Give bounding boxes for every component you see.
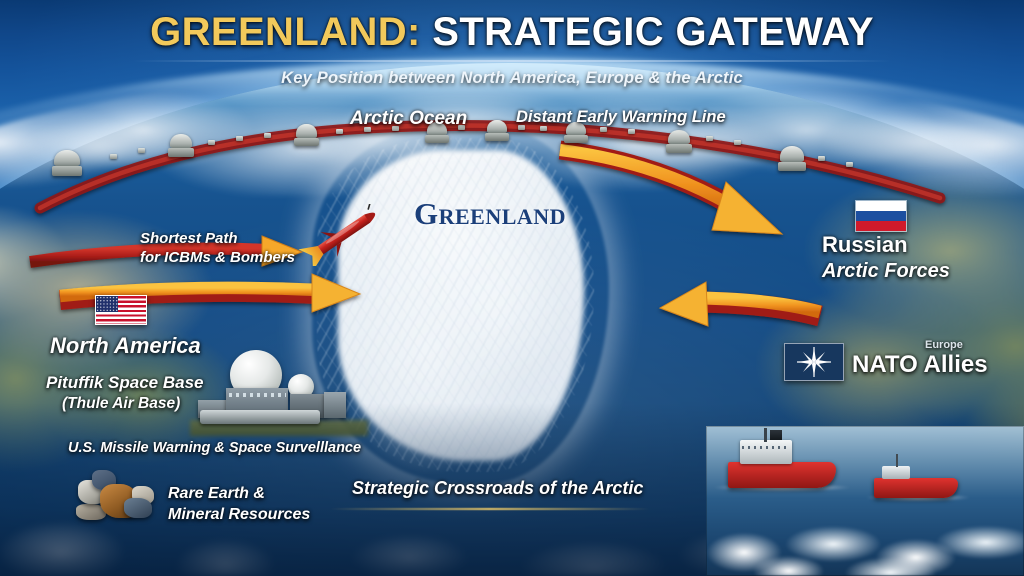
flag-band-red bbox=[856, 221, 906, 231]
icebreaker-ship-icon bbox=[706, 426, 1024, 576]
title-block: GREENLAND: STRATEGIC GATEWAY Key Positio… bbox=[0, 0, 1024, 88]
shortest-path-line-1: Shortest Path bbox=[140, 230, 238, 247]
label-europe: Europe bbox=[925, 339, 963, 351]
title-gold-part: GREENLAND: bbox=[150, 10, 421, 54]
dew-line-marker bbox=[818, 156, 825, 161]
radar-station-icon bbox=[54, 150, 80, 176]
infographic-canvas: Arctic Ocean Distant Early Warning Line … bbox=[0, 0, 1024, 576]
label-distant-early-warning-line: Distant Early Warning Line bbox=[516, 108, 726, 127]
page-subtitle: Key Position between North America, Euro… bbox=[0, 69, 1024, 88]
label-strategic-crossroads: Strategic Crossroads of the Arctic bbox=[352, 478, 643, 499]
label-russian-arctic-forces: Russian Arctic Forces bbox=[822, 232, 950, 283]
dew-line-marker bbox=[600, 127, 607, 132]
dew-line-marker bbox=[734, 140, 741, 145]
shortest-path-line-2: for ICBMs & Bombers bbox=[140, 249, 295, 266]
pituffik-line-1: Pituffik Space Base bbox=[46, 373, 203, 392]
crossroads-underline bbox=[330, 508, 650, 510]
label-north-america: North America bbox=[50, 333, 201, 359]
radar-station-icon bbox=[170, 134, 192, 157]
mineral-rocks-icon bbox=[74, 466, 166, 528]
dew-line-marker bbox=[336, 129, 343, 134]
dew-line-marker bbox=[236, 136, 243, 141]
russian-line-2: Arctic Forces bbox=[822, 259, 950, 283]
label-nato-allies: NATO Allies bbox=[852, 351, 988, 379]
dew-line-marker bbox=[706, 136, 713, 141]
base-vehicle-convoy bbox=[200, 410, 320, 424]
label-rare-earth-minerals: Rare Earth & Mineral Resources bbox=[168, 484, 310, 526]
title-white-part: STRATEGIC GATEWAY bbox=[432, 10, 874, 54]
rare-earth-line-1: Rare Earth & bbox=[168, 485, 265, 502]
dew-line-marker bbox=[110, 154, 117, 159]
russian-line-1: Russian bbox=[822, 232, 908, 257]
radar-station-icon bbox=[780, 146, 804, 171]
dew-line-marker bbox=[208, 140, 215, 145]
usa-flag-icon bbox=[95, 295, 147, 325]
mineral-rock bbox=[124, 498, 152, 518]
radar-station-icon bbox=[487, 120, 507, 141]
dew-line-marker bbox=[264, 133, 271, 138]
label-missile-warning-surveillance: U.S. Missile Warning & Space Survelllanc… bbox=[68, 440, 361, 456]
missile-icon bbox=[292, 204, 394, 266]
label-greenland: Greenland bbox=[414, 196, 566, 232]
radar-station-icon bbox=[296, 124, 317, 146]
russia-flag-icon bbox=[855, 200, 907, 232]
page-title: GREENLAND: STRATEGIC GATEWAY bbox=[0, 0, 1024, 54]
label-pituffik-space-base: Pituffik Space Base (Thule Air Base) bbox=[46, 372, 203, 414]
nato-compass-star-icon bbox=[797, 347, 831, 377]
title-divider bbox=[133, 60, 891, 62]
dew-line-marker bbox=[628, 129, 635, 134]
dew-line-marker bbox=[138, 148, 145, 153]
inset-frame bbox=[706, 426, 1024, 576]
nato-flag-icon bbox=[784, 343, 844, 381]
label-shortest-path: Shortest Path for ICBMs & Bombers bbox=[140, 230, 295, 268]
flag-band-white bbox=[856, 201, 906, 211]
label-arctic-ocean: Arctic Ocean bbox=[350, 108, 467, 130]
pituffik-line-2: (Thule Air Base) bbox=[46, 394, 203, 414]
rare-earth-line-2: Mineral Resources bbox=[168, 506, 310, 523]
pituffik-base-photo bbox=[196, 348, 356, 434]
dew-line-marker bbox=[846, 162, 853, 167]
building-windows bbox=[229, 393, 286, 397]
flag-band-blue bbox=[856, 211, 906, 221]
base-building bbox=[324, 392, 346, 418]
flag-canton bbox=[96, 296, 118, 312]
radar-station-icon bbox=[668, 130, 690, 153]
